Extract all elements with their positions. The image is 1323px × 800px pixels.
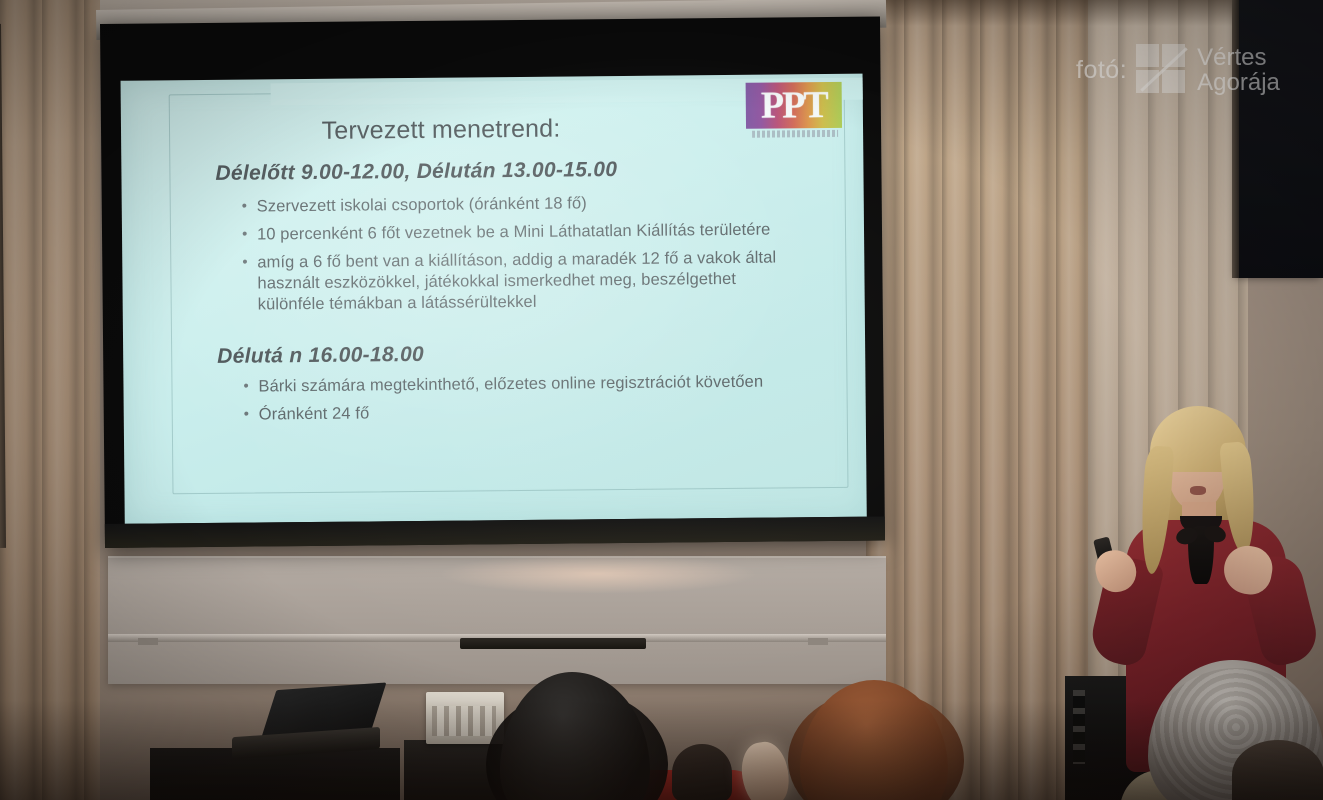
slide-content: PPT Tervezett menetrend: Délelőtt 9.00-1… <box>121 74 867 524</box>
whiteboard-clip <box>138 638 158 645</box>
list-item: 10 percenként 6 főt vezetnek be a Mini L… <box>240 219 800 245</box>
list-item: Óránként 24 fő <box>242 399 802 425</box>
presenter-mouth <box>1190 486 1206 495</box>
attendee-head-far-right <box>1232 740 1323 800</box>
projection-screen-frame: PPT Tervezett menetrend: Délelőtt 9.00-1… <box>100 17 885 548</box>
ppt-logo-subtitle <box>752 130 838 138</box>
whiteboard-clip <box>808 638 828 645</box>
attendee-head-small <box>672 744 732 800</box>
list-item: Bárki számára megtekinthető, előzetes on… <box>241 371 801 397</box>
curtain-left <box>0 0 100 800</box>
slide-heading-afternoon: Délutá n 16.00-18.00 <box>217 343 424 369</box>
whiteboard-glare <box>438 554 758 594</box>
projection-screen-surface: PPT Tervezett menetrend: Délelőtt 9.00-1… <box>121 74 867 524</box>
presentation-photo-scene: PPT Tervezett menetrend: Délelőtt 9.00-1… <box>0 0 1323 800</box>
slide-title: Tervezett menetrend: <box>121 113 761 148</box>
list-item: amíg a 6 fő bent van a kiállításon, addi… <box>240 247 801 315</box>
slide-heading-morning: Délelőtt 9.00-12.00, Délután 13.00-15.00 <box>215 158 617 186</box>
whiteboard <box>108 556 886 684</box>
slide-bullets-morning: Szervezett iskolai csoportok (óránként 1… <box>240 191 801 322</box>
whiteboard-marker <box>460 638 646 649</box>
slide-bullets-afternoon: Bárki számára megtekinthető, előzetes on… <box>241 371 802 432</box>
list-item: Szervezett iskolai csoportok (óránként 1… <box>240 191 800 217</box>
presenter-bow-tie <box>1188 526 1214 584</box>
dark-wall-panel <box>1238 0 1323 278</box>
laptop <box>232 683 382 755</box>
